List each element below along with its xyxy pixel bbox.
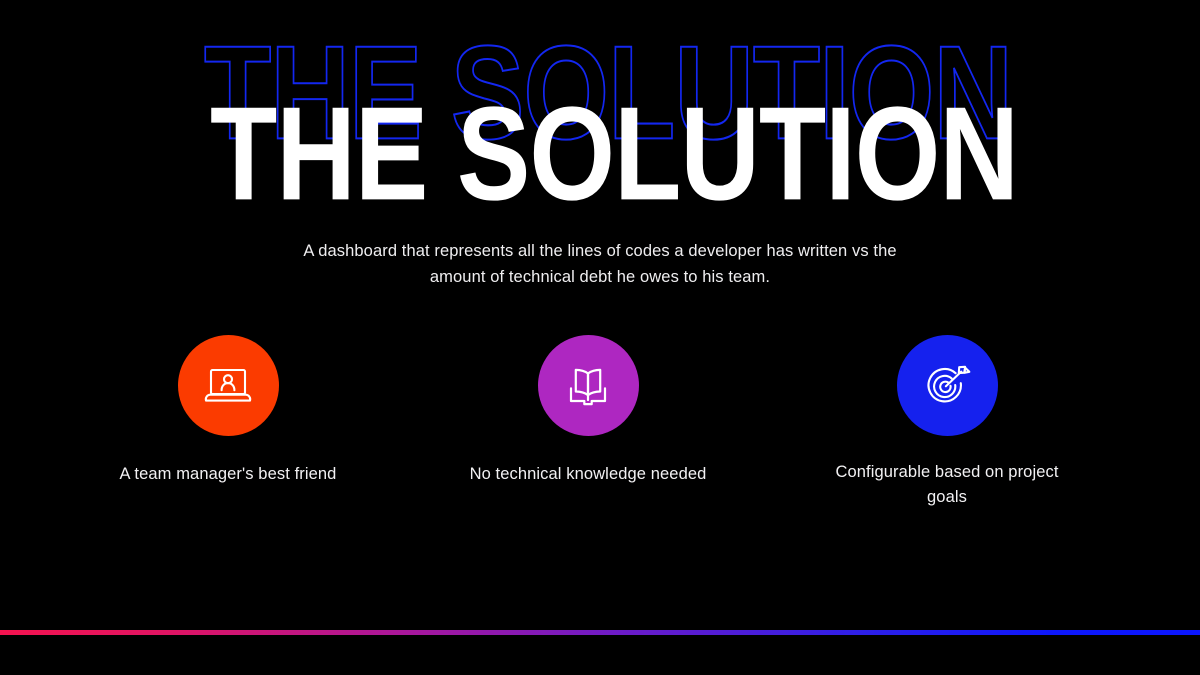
feature-item-team-manager: A team manager's best friend [98, 330, 358, 487]
open-book-icon [563, 363, 613, 409]
feature-label-1: A team manager's best friend [98, 462, 358, 487]
feature-item-no-technical-knowledge: No technical knowledge needed [458, 330, 718, 487]
feature-label-3: Configurable based on project goals [817, 460, 1077, 510]
title-solid-layer: THE SOLUTION [210, 88, 1018, 221]
slide-subtitle: A dashboard that represents all the line… [290, 239, 910, 290]
feature-icon-circle-1 [178, 335, 279, 436]
target-dart-icon [921, 361, 973, 411]
laptop-user-icon [200, 363, 256, 409]
bottom-gradient-bar [0, 630, 1200, 635]
feature-row: A team manager's best friend No technica… [0, 330, 1200, 530]
feature-item-configurable: Configurable based on project goals [817, 330, 1077, 510]
page-title: THE SOLUTION THE SOLUTION [0, 0, 1200, 190]
feature-icon-circle-3 [897, 335, 998, 436]
slide-canvas: THE SOLUTION THE SOLUTION A dashboard th… [0, 0, 1200, 675]
feature-icon-circle-2 [538, 335, 639, 436]
feature-label-2: No technical knowledge needed [458, 462, 718, 487]
